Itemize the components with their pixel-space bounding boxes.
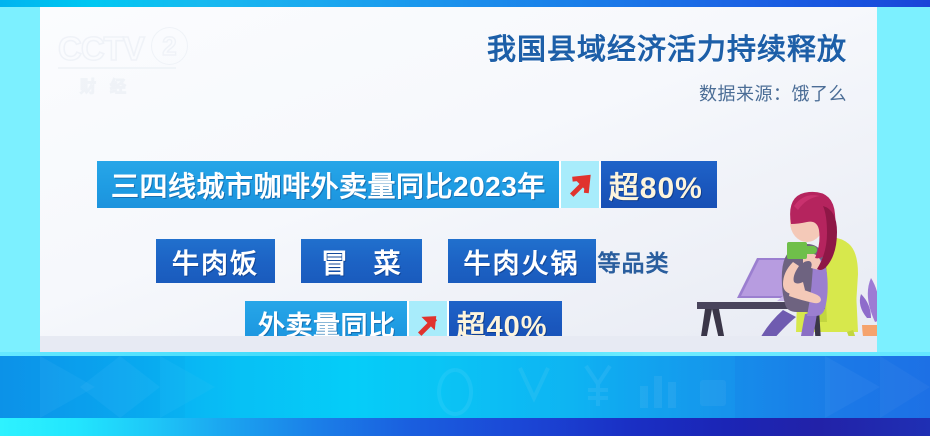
panel-bottom-edge bbox=[40, 336, 877, 352]
cctv2-watermark-logo: CCTV 2 财经 bbox=[58, 27, 188, 99]
category-pill-2: 冒 菜 bbox=[301, 239, 422, 283]
broadcast-news-graphic: CCTV 2 财经 我国县域经济活力持续释放 数据来源：饿了么 三四线城市咖啡外… bbox=[0, 0, 930, 436]
band-bottom-stripe bbox=[0, 418, 930, 436]
channel-subtitle: 财经 bbox=[80, 73, 188, 97]
stat-row-coffee-value: 超80% bbox=[601, 161, 717, 208]
category-pill-3: 牛肉火锅 bbox=[448, 239, 596, 283]
page-title: 我国县域经济活力持续释放 bbox=[487, 35, 847, 67]
cctv-wordmark: CCTV bbox=[58, 32, 144, 65]
stat-row-coffee-label: 三四线城市咖啡外卖量同比2023年 bbox=[97, 161, 559, 208]
band-geometric-motifs bbox=[0, 356, 930, 418]
category-pill-1: 牛肉饭 bbox=[156, 239, 275, 283]
right-cyan-rail bbox=[877, 7, 930, 352]
data-source-label: 数据来源：饿了么 bbox=[487, 80, 847, 106]
category-suffix-label: 等品类 bbox=[598, 239, 670, 283]
stat-row-categories: 牛肉饭 冒 菜 牛肉火锅 等品类 bbox=[156, 239, 670, 283]
woman-working-on-laptop-illustration bbox=[695, 190, 877, 352]
bottom-decorative-band bbox=[0, 352, 930, 436]
stat-row-coffee: 三四线城市咖啡外卖量同比2023年 超80% bbox=[97, 161, 717, 208]
channel-number: 2 bbox=[151, 27, 188, 65]
left-cyan-rail bbox=[0, 7, 40, 352]
logo-row: CCTV 2 bbox=[58, 27, 188, 65]
up-right-arrow-icon bbox=[559, 161, 601, 208]
logo-underline bbox=[58, 67, 176, 69]
top-gradient-strip bbox=[0, 0, 930, 7]
content-panel: CCTV 2 财经 我国县域经济活力持续释放 数据来源：饿了么 三四线城市咖啡外… bbox=[40, 7, 877, 352]
headline-block: 我国县域经济活力持续释放 数据来源：饿了么 bbox=[487, 35, 847, 106]
